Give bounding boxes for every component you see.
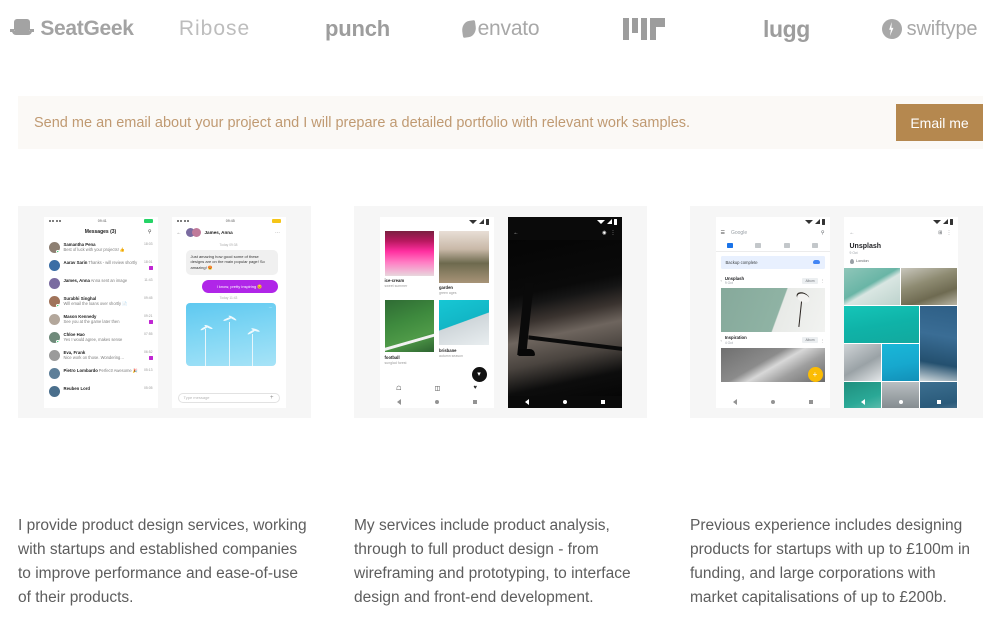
seat-icon xyxy=(9,19,35,39)
search-input-placeholder: Google xyxy=(731,230,747,236)
tab-sharing[interactable] xyxy=(812,243,818,248)
status-time: 09:41 xyxy=(98,219,107,223)
album-location-label: London xyxy=(856,259,869,263)
signal-icon xyxy=(479,219,484,224)
android-nav-bar[interactable] xyxy=(844,396,958,408)
photo-subtitle: sunglad forest xyxy=(385,361,435,365)
signal-icon xyxy=(49,220,62,222)
avatar xyxy=(49,332,60,343)
message-time: 09:45 xyxy=(144,296,153,300)
photo-thumbnail[interactable] xyxy=(882,344,919,381)
photo-thumbnail[interactable] xyxy=(439,300,489,345)
messages-header: Messages (3) ⚲ xyxy=(44,226,158,239)
album-photo-grid[interactable] xyxy=(844,268,958,408)
avatar xyxy=(49,314,60,325)
signal-icon xyxy=(943,219,948,224)
contact-name: Chloe Hao xyxy=(64,332,85,337)
message-time: 18:01 xyxy=(144,260,153,264)
album-location: London xyxy=(844,255,958,268)
list-item[interactable]: Chloe Hao Yes I would agree, makes sense… xyxy=(44,329,158,347)
more-icon[interactable]: ⋮ xyxy=(821,278,825,283)
battery-icon xyxy=(950,219,953,225)
message-time: 11:43 xyxy=(144,278,152,282)
album-tag: Album xyxy=(802,337,817,343)
list-item[interactable]: Pietro Lombardo Perfect! Awesome 🎉 05:13 xyxy=(44,365,158,383)
back-icon xyxy=(397,399,401,405)
phone-mockup-chat-detail: 09:45 ← James, Anna ⋯ Today 09:38 Just a… xyxy=(172,217,286,408)
list-item[interactable]: ice-cream sweet summer xyxy=(385,231,435,296)
bolt-icon xyxy=(882,19,902,39)
home-icon[interactable]: ☖ xyxy=(396,385,401,392)
email-me-button[interactable]: Email me xyxy=(896,104,983,141)
leaf-icon xyxy=(461,20,477,38)
android-status-bar xyxy=(380,217,494,227)
backup-status-banner: Backup complete xyxy=(721,256,825,269)
recents-icon xyxy=(601,400,605,404)
more-icon[interactable]: ⋯ xyxy=(269,305,273,310)
tab-photos[interactable] xyxy=(727,243,733,248)
photo-title: garden xyxy=(439,285,489,290)
message-preview: Will email the loans over shortly 📄 xyxy=(64,301,128,306)
unread-badge xyxy=(149,266,153,270)
messages-title: Messages (3) xyxy=(85,229,116,235)
add-icon[interactable]: ⊞ xyxy=(938,230,942,236)
album-header[interactable]: ‹ Unsplash 9 Oct Album ⋮ xyxy=(716,273,830,289)
message-preview: Best of luck with your projects! 👍 xyxy=(64,247,126,252)
wifi-icon xyxy=(805,220,813,224)
unread-badge xyxy=(149,356,153,360)
message-list[interactable]: Samantha Pena Best of luck with your pro… xyxy=(44,239,158,401)
banner-text: Send me an email about your project and … xyxy=(34,115,690,131)
photo-subtitle: sweet summer xyxy=(385,284,435,288)
photo-title: ice-cream xyxy=(385,278,435,283)
back-icon xyxy=(525,399,529,405)
bottom-tab-bar[interactable]: ☖ ◫ ♥ xyxy=(380,382,494,395)
photo-street-shadow[interactable] xyxy=(508,240,622,396)
phone-mockup-photo-grid: ice-cream sweet summer garden green ages… xyxy=(380,217,494,408)
phone-mockup-photo-viewer: ← ◉ ⋮ xyxy=(508,217,622,408)
logo-swiftype[interactable]: swiftype xyxy=(858,18,1001,41)
copy-column-2: My services include product analysis, th… xyxy=(354,514,647,610)
message-preview: Yes I would agree, makes sense xyxy=(64,337,123,342)
viewer-toolbar: ← ◉ ⋮ xyxy=(508,227,622,240)
contact-name: Mason Kennedy xyxy=(64,314,97,319)
home-icon xyxy=(899,400,903,404)
list-item[interactable]: James, Anna Anna sent an image 11:43 xyxy=(44,275,158,293)
logo-punch[interactable]: punch xyxy=(286,16,429,42)
signal-icon xyxy=(177,220,190,222)
copy-column-row: I provide product design services, worki… xyxy=(18,514,983,610)
list-item[interactable]: Aarav Sarin Thanks - will review shortly… xyxy=(44,257,158,275)
back-icon xyxy=(733,399,737,405)
tab-assistant[interactable] xyxy=(784,243,790,248)
status-time: 09:45 xyxy=(226,219,235,223)
battery-icon xyxy=(614,219,617,225)
home-icon xyxy=(563,400,567,404)
contact-name: Eva, Frank xyxy=(64,350,86,355)
logo-label: lugg xyxy=(763,16,810,43)
logo-label: punch xyxy=(325,16,390,42)
hamburger-icon[interactable]: ☰ xyxy=(721,230,725,236)
portfolio-card-row: 09:41 Messages (3) ⚲ Samantha Pena Best … xyxy=(18,206,983,418)
photo-thumbnail[interactable] xyxy=(901,268,958,305)
signal-icon xyxy=(815,219,820,224)
logo-label: swiftype xyxy=(907,18,978,41)
contact-name: James, Anna xyxy=(64,278,90,283)
more-icon[interactable]: ⋮ xyxy=(821,338,825,343)
logo-ribose[interactable]: Ribose xyxy=(143,17,286,41)
ios-status-bar: 09:41 xyxy=(44,217,158,226)
tab-bar[interactable] xyxy=(716,240,830,252)
more-icon[interactable]: ⋮ xyxy=(947,230,952,236)
copy-column-3: Previous experience includes designing p… xyxy=(690,514,983,610)
android-nav-bar[interactable] xyxy=(380,396,494,408)
photo-thumbnail[interactable] xyxy=(439,231,489,283)
list-item[interactable]: football sunglad forest xyxy=(385,300,435,365)
logo-itf[interactable] xyxy=(572,18,715,40)
chat-photo-palm-trees[interactable]: ⋯ xyxy=(186,303,276,366)
back-icon[interactable]: ← xyxy=(514,230,519,236)
logo-seatgeek[interactable]: SeatGeek xyxy=(0,17,143,41)
battery-icon xyxy=(822,219,825,225)
arrow-down-icon[interactable]: ▾ xyxy=(472,367,487,382)
recents-icon xyxy=(937,400,941,404)
message-preview: Nice work on those. Wondering… xyxy=(64,355,125,360)
photo-thumbnail[interactable] xyxy=(844,344,881,381)
logo-label: SeatGeek xyxy=(40,17,133,41)
wifi-icon xyxy=(469,220,477,224)
avatar xyxy=(49,260,60,271)
contact-name: Pietro Lombardo xyxy=(64,368,98,373)
list-item[interactable]: Eva, Frank Nice work on those. Wondering… xyxy=(44,347,158,365)
wifi-icon xyxy=(933,220,941,224)
logo-lugg[interactable]: lugg xyxy=(715,16,858,43)
ios-status-bar: 09:45 xyxy=(172,217,286,226)
phone-mockup-album-detail: ← ⊞ ⋮ Unsplash 9 Oct London xyxy=(844,217,958,408)
android-status-bar xyxy=(508,217,622,227)
photo-grid[interactable]: ice-cream sweet summer garden green ages… xyxy=(380,227,494,369)
avatar xyxy=(49,278,60,289)
backup-status-text: Backup complete xyxy=(726,260,758,265)
plus-icon[interactable]: + xyxy=(270,395,274,401)
plus-icon[interactable]: + xyxy=(808,367,823,382)
chat-title: James, Anna xyxy=(205,230,233,235)
message-preview: See you at the game later then xyxy=(64,319,120,324)
message-time: 05:05 xyxy=(144,386,153,390)
chat-bubble-incoming: Just amazing how good some of these desi… xyxy=(186,250,278,275)
recents-icon xyxy=(473,400,477,404)
contact-name: Surabhi Singhal xyxy=(64,296,97,301)
album-header[interactable]: ‹ Inspiration 4 Oct Album ⋮ xyxy=(716,332,830,348)
message-preview: Perfect! Awesome 🎉 xyxy=(99,368,138,373)
photo-subtitle: autumn season xyxy=(439,354,489,358)
bars-icon xyxy=(623,18,665,40)
photo-subtitle: green ages xyxy=(439,291,489,295)
avatar xyxy=(49,296,60,307)
album-name: Inspiration xyxy=(725,335,747,340)
phone-mockup-photos-home: ☰ Google ⚲ Backup complete ‹ Unsplash 9 … xyxy=(716,217,830,408)
email-cta-banner: Send me an email about your project and … xyxy=(18,96,983,149)
phone-mockup-message-list: 09:41 Messages (3) ⚲ Samantha Pena Best … xyxy=(44,217,158,408)
client-logo-bar: SeatGeek Ribose punch envato lugg swifty… xyxy=(0,0,1001,58)
tab-albums[interactable] xyxy=(755,243,761,248)
photo-title: brisbane xyxy=(439,348,489,353)
album-toolbar: ← ⊞ ⋮ xyxy=(844,227,958,240)
chat-message-input[interactable]: Type message + xyxy=(178,393,280,403)
logo-label: Ribose xyxy=(179,17,250,41)
contact-name: Reuben Lord xyxy=(64,386,91,391)
avatar xyxy=(49,368,60,379)
android-status-bar xyxy=(716,217,830,227)
portfolio-card-messaging[interactable]: 09:41 Messages (3) ⚲ Samantha Pena Best … xyxy=(18,206,311,418)
search-icon[interactable]: ⚲ xyxy=(148,229,152,235)
logo-label: envato xyxy=(478,17,540,41)
avatar xyxy=(49,386,60,397)
camera-icon[interactable]: ◉ xyxy=(602,230,606,236)
album-icon[interactable]: ◫ xyxy=(435,385,441,392)
avatar xyxy=(49,242,60,253)
android-nav-bar[interactable] xyxy=(716,396,830,408)
photo-thumbnail[interactable] xyxy=(385,231,435,276)
message-preview: Anna sent an image xyxy=(91,278,127,283)
back-icon xyxy=(861,399,865,405)
album-count: 9 Oct xyxy=(725,281,733,285)
message-time: 18:03 xyxy=(144,242,153,246)
heart-icon[interactable]: ♥ xyxy=(473,385,477,391)
chat-input-placeholder: Type message xyxy=(184,395,210,400)
message-preview: Thanks - will review shortly xyxy=(88,260,137,265)
back-icon[interactable]: ← xyxy=(177,230,182,236)
search-icon[interactable]: ⚲ xyxy=(821,230,825,236)
portfolio-card-photos[interactable]: ☰ Google ⚲ Backup complete ‹ Unsplash 9 … xyxy=(690,206,983,418)
cloud-icon xyxy=(813,260,820,264)
message-time: 05:13 xyxy=(144,368,153,372)
avatar-group xyxy=(186,228,201,237)
photo-thumbnail[interactable] xyxy=(385,300,435,352)
logo-envato[interactable]: envato xyxy=(429,17,572,41)
signal-icon xyxy=(607,219,612,224)
copy-column-1: I provide product design services, worki… xyxy=(18,514,311,610)
pin-icon xyxy=(850,259,854,264)
more-icon[interactable]: ⋮ xyxy=(611,230,616,236)
contact-name: Aarav Sarin xyxy=(64,260,88,265)
photo-thumbnail[interactable] xyxy=(844,268,900,305)
message-time: 09:21 xyxy=(144,314,153,318)
back-icon[interactable]: ← xyxy=(850,230,855,236)
home-icon xyxy=(771,400,775,404)
contact-name: Samantha Pena xyxy=(64,242,96,247)
portfolio-card-gallery[interactable]: ice-cream sweet summer garden green ages… xyxy=(354,206,647,418)
battery-icon xyxy=(486,219,489,225)
photo-title: football xyxy=(385,355,435,360)
recents-icon xyxy=(809,400,813,404)
wifi-icon xyxy=(597,220,605,224)
message-time: 07:55 xyxy=(144,332,153,336)
search-bar[interactable]: ☰ Google ⚲ xyxy=(716,227,830,240)
photo-lamp[interactable] xyxy=(721,288,825,332)
chat-daystamp: Today 11:43 xyxy=(172,296,286,300)
photo-thumbnail[interactable] xyxy=(920,306,957,381)
list-item[interactable]: Mason Kennedy See you at the game later … xyxy=(44,311,158,329)
list-item[interactable]: Samantha Pena Best of luck with your pro… xyxy=(44,239,158,257)
chat-bubble-outgoing: I know, pretty inspiring 😊 xyxy=(202,280,278,293)
album-name: Unsplash xyxy=(725,276,744,281)
avatar xyxy=(49,350,60,361)
message-time: 06:52 xyxy=(144,350,153,354)
chevron-down-icon[interactable]: ‹ xyxy=(721,338,722,343)
album-count: 4 Oct xyxy=(725,341,733,345)
album-tag: Album xyxy=(802,278,817,284)
list-item[interactable]: Reuben Lord 05:05 xyxy=(44,383,158,401)
unread-badge xyxy=(149,320,153,324)
chevron-down-icon[interactable]: ‹ xyxy=(721,278,722,283)
photo-thumbnail[interactable] xyxy=(844,306,920,343)
list-item[interactable]: Surabhi Singhal Will email the loans ove… xyxy=(44,293,158,311)
battery-icon xyxy=(144,219,153,223)
more-icon[interactable]: ⋯ xyxy=(275,230,281,236)
home-icon xyxy=(435,400,439,404)
album-title: Unsplash xyxy=(844,240,958,250)
list-item[interactable]: brisbane autumn season xyxy=(439,300,489,365)
chat-daystamp: Today 09:38 xyxy=(172,243,286,247)
android-nav-bar[interactable] xyxy=(508,396,622,408)
chat-header: ← James, Anna ⋯ xyxy=(172,226,286,240)
list-item[interactable]: garden green ages xyxy=(439,231,489,296)
battery-icon xyxy=(272,219,281,223)
android-status-bar xyxy=(844,217,958,227)
